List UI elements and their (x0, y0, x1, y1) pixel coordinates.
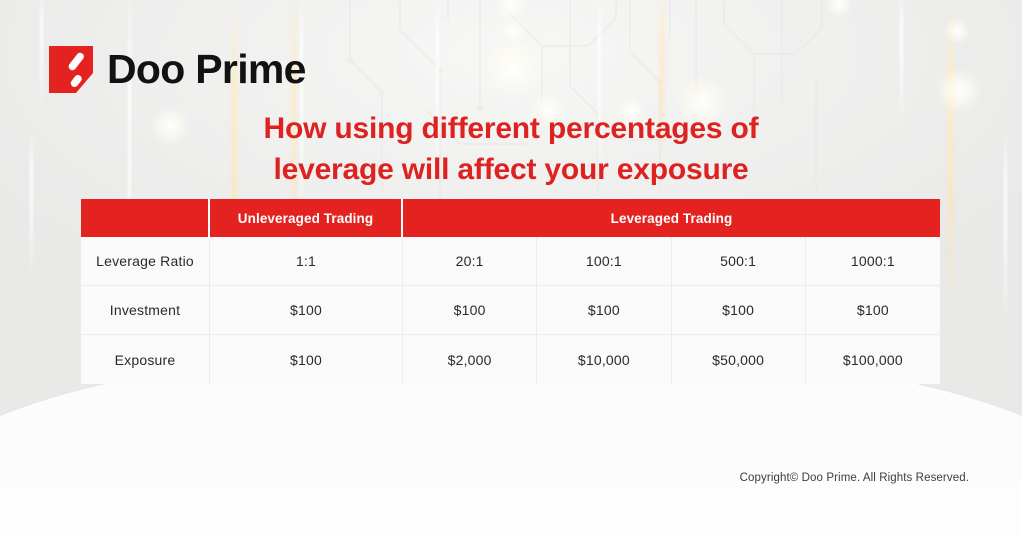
cell-investment-lev-2: $100 (537, 286, 671, 335)
table-header-row: Unleveraged Trading Leveraged Trading (81, 199, 940, 237)
cell-investment-lev-3: $100 (672, 286, 806, 335)
brand-name: Doo Prime (107, 49, 306, 90)
cell-leverage-ratio-lev-2: 100:1 (537, 237, 671, 286)
table-header-unleveraged: Unleveraged Trading (210, 199, 403, 237)
table-header-corner (81, 199, 210, 237)
cell-leverage-ratio-unleveraged: 1:1 (210, 237, 403, 286)
table-header-leveraged: Leveraged Trading (403, 199, 940, 237)
copyright-text: Copyright© Doo Prime. All Rights Reserve… (740, 472, 969, 484)
cell-investment-unleveraged: $100 (210, 286, 403, 335)
doo-prime-logo-mark-icon (49, 46, 93, 93)
page-title-line-2: leverage will affect your exposure (0, 149, 1022, 190)
leverage-comparison-table: Unleveraged Trading Leveraged Trading Le… (81, 199, 940, 384)
row-label-investment: Investment (81, 286, 210, 335)
cell-exposure-lev-4: $100,000 (806, 335, 940, 384)
slide-canvas: Doo Prime How using different percentage… (0, 0, 1022, 535)
cell-exposure-lev-1: $2,000 (403, 335, 537, 384)
cell-investment-lev-1: $100 (403, 286, 537, 335)
cell-leverage-ratio-lev-4: 1000:1 (806, 237, 940, 286)
page-title: How using different percentages of lever… (0, 108, 1022, 191)
table-row: Exposure $100 $2,000 $10,000 $50,000 $10… (81, 335, 940, 384)
cell-leverage-ratio-lev-3: 500:1 (672, 237, 806, 286)
cell-investment-lev-4: $100 (806, 286, 940, 335)
cell-leverage-ratio-lev-1: 20:1 (403, 237, 537, 286)
page-title-line-1: How using different percentages of (0, 108, 1022, 149)
row-label-leverage-ratio: Leverage Ratio (81, 237, 210, 286)
brand-logo: Doo Prime (49, 46, 306, 93)
cell-exposure-unleveraged: $100 (210, 335, 403, 384)
table-row: Investment $100 $100 $100 $100 $100 (81, 286, 940, 335)
table-row: Leverage Ratio 1:1 20:1 100:1 500:1 1000… (81, 237, 940, 286)
cell-exposure-lev-2: $10,000 (537, 335, 671, 384)
row-label-exposure: Exposure (81, 335, 210, 384)
cell-exposure-lev-3: $50,000 (672, 335, 806, 384)
